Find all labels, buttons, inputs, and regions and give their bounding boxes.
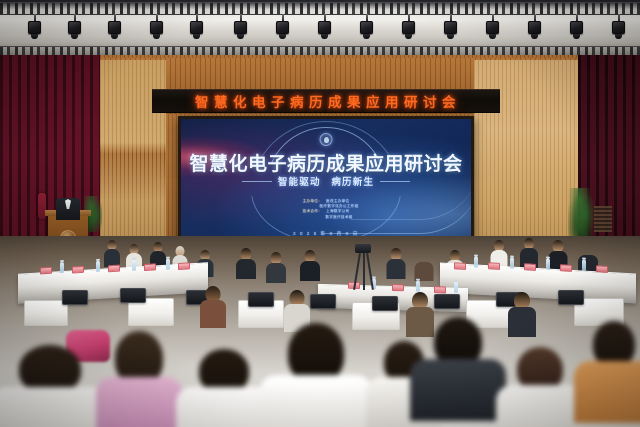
camera-icon (355, 244, 371, 253)
lightbulb-icon (320, 133, 333, 146)
audience-member (266, 252, 286, 282)
desk-monitor (372, 296, 398, 311)
stage-light-icon (28, 14, 41, 39)
stage-light-icon (108, 14, 121, 39)
stage-light-icon (444, 14, 457, 39)
desk-monitor (120, 288, 146, 303)
name-card (596, 265, 608, 273)
stage-light-row (0, 14, 640, 54)
foreground-audience (0, 323, 640, 427)
water-bottle (166, 259, 170, 270)
audience-member (300, 250, 320, 280)
audience-member (200, 286, 226, 326)
desk-monitor (558, 290, 584, 305)
subtitle-rule-right (380, 181, 410, 182)
audience-member (96, 331, 182, 427)
stage-light-icon (360, 14, 373, 39)
audience-member (104, 240, 120, 266)
stage-light-icon (486, 14, 499, 39)
audience-member (176, 349, 272, 427)
water-bottle (510, 257, 514, 268)
audience-member (496, 347, 584, 427)
name-card (434, 286, 446, 293)
potted-plant (568, 188, 594, 242)
wall-vent (594, 206, 612, 232)
water-bottle (416, 281, 420, 292)
water-bottle (60, 262, 64, 273)
screen-subtitle: 智能驱动 病历新生 (278, 174, 374, 188)
stage-light-icon (276, 14, 289, 39)
credit-label: 技术合作： (303, 209, 322, 214)
stage-light-icon (612, 14, 625, 39)
stage-light-icon (570, 14, 583, 39)
name-card (72, 266, 84, 274)
desk-monitor (310, 294, 336, 309)
stage-light-icon (68, 14, 81, 39)
name-card (178, 262, 190, 270)
venue-banner-text: 智慧化电子病历成果应用研讨会 (195, 91, 461, 111)
venue-led-banner: 智慧化电子病历成果应用研讨会 (152, 89, 500, 113)
audience-member (236, 248, 256, 278)
name-card (40, 267, 52, 275)
water-bottle (474, 256, 478, 267)
audience-member (0, 345, 110, 427)
desk-monitor (62, 290, 88, 305)
stage-light-icon (402, 14, 415, 39)
name-card (488, 262, 500, 270)
name-card (392, 284, 404, 291)
water-bottle (132, 260, 136, 271)
screen-subtitle-row: 智能驱动 病历新生 (181, 174, 471, 188)
credit-line: 数字医疗技术组 (181, 215, 471, 220)
screen-credits: 主办单位： 医改主办单位 医疗数字化办公工作组 技术合作： 上海数字公司 数字医… (181, 199, 471, 220)
water-bottle (582, 259, 586, 270)
water-bottle (96, 261, 100, 272)
subtitle-rule-left (242, 181, 272, 182)
stage-light-icon (234, 14, 247, 39)
stage-light-icon (150, 14, 163, 39)
led-screen-frame: 智慧化电子病历成果应用研讨会 智能驱动 病历新生 主办单位： 医改主办单位 医疗… (178, 116, 474, 247)
audience-member (410, 317, 506, 421)
audience-member (574, 321, 640, 421)
water-bottle (454, 282, 458, 293)
name-card (524, 263, 536, 271)
credit-value: 数字医疗技术组 (325, 215, 352, 220)
desk-monitor (248, 292, 274, 307)
conference-hall-photo: 智慧化电子病历成果应用研讨会 智慧化电子病历成果应用研讨会 智能驱动 病历新生 (0, 0, 640, 427)
name-card (108, 265, 120, 273)
audience-member (414, 252, 433, 280)
desk-monitor (434, 294, 460, 309)
screen-title: 智慧化电子病历成果应用研讨会 (181, 149, 471, 176)
video-camera-tripod (352, 244, 374, 290)
name-card (454, 262, 466, 270)
stage-light-icon (318, 14, 331, 39)
audience-member (386, 248, 405, 278)
water-bottle (546, 258, 550, 269)
stage-light-icon (528, 14, 541, 39)
name-card (144, 263, 156, 271)
stage-light-icon (190, 14, 203, 39)
presenting-speaker (54, 188, 82, 218)
name-card (560, 264, 572, 272)
led-screen: 智慧化电子病历成果应用研讨会 智能驱动 病历新生 主办单位： 医改主办单位 医疗… (181, 119, 471, 244)
audience-member (260, 323, 372, 427)
